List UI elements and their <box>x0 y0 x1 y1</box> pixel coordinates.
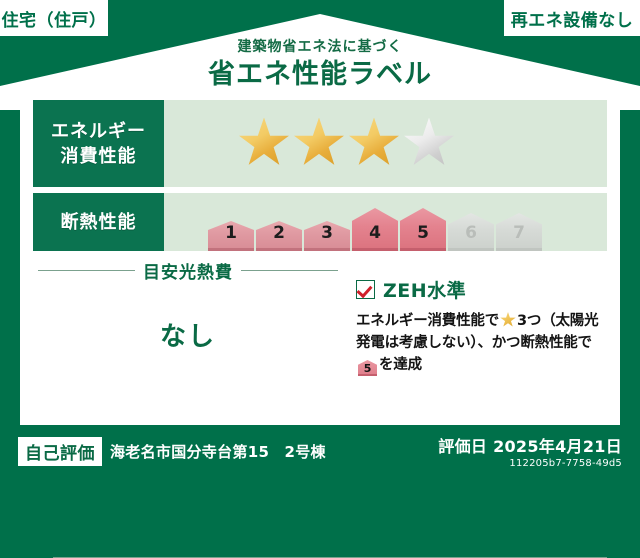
rule-left <box>38 270 135 271</box>
insulation-performance-row: 断熱性能 1 2 3 4 5 6 7 <box>33 193 607 251</box>
insulation-step-1: 1 <box>208 221 254 251</box>
insulation-step-7: 7 <box>496 213 542 251</box>
utility-cost-value: なし <box>38 316 338 353</box>
insulation-head-label: 断熱性能 <box>61 210 137 235</box>
checkmark-icon <box>356 280 375 299</box>
energy-performance-row: エネルギー 消費性能 <box>33 100 607 187</box>
evaluation-id: 112205b7-7758-49d5 <box>438 458 622 469</box>
star-icon-1 <box>238 118 290 170</box>
zeh-block: ZEH水準 エネルギー消費性能で3つ（太陽光発電は考慮しない）、かつ断熱性能で5… <box>356 276 606 376</box>
house-icon-inline: 5 <box>358 360 377 376</box>
footer-right: 評価日 2025年4月21日 112205b7-7758-49d5 <box>438 433 622 469</box>
energy-performance-body <box>164 100 607 187</box>
zeh-header: ZEH水準 <box>356 276 606 303</box>
insulation-performance-header: 断熱性能 <box>33 193 164 251</box>
utility-cost-title: 目安光熱費 <box>143 258 233 283</box>
footer: 自己評価 海老名市国分寺台第15 2号棟 評価日 2025年4月21日 1122… <box>0 425 640 480</box>
zeh-desc-part1: エネルギー消費性能で <box>356 313 499 329</box>
energy-head-line2: 消費性能 <box>61 144 137 169</box>
rule-right <box>241 270 338 271</box>
star-icon-inline <box>500 312 516 328</box>
insulation-step-6: 6 <box>448 213 494 251</box>
energy-performance-header: エネルギー 消費性能 <box>33 100 164 187</box>
property-address: 海老名市国分寺台第15 2号棟 <box>110 441 326 462</box>
insulation-step-4: 4 <box>352 208 398 251</box>
insulation-step-5: 5 <box>400 208 446 251</box>
self-evaluation-badge: 自己評価 <box>18 437 102 466</box>
zeh-description: エネルギー消費性能で3つ（太陽光発電は考慮しない）、かつ断熱性能で5を達成 <box>356 310 606 376</box>
insulation-scale: 1 2 3 4 5 6 7 <box>164 193 542 251</box>
star-icon-2 <box>293 118 345 170</box>
star-icon-3 <box>348 118 400 170</box>
insulation-step-3: 3 <box>304 221 350 251</box>
utility-cost-header: 目安光熱費 <box>38 258 338 283</box>
zeh-desc-part3: を達成 <box>379 357 422 373</box>
insulation-step-2: 2 <box>256 221 302 251</box>
energy-performance-label: 住宅（住戸） 再エネ設備なし 建築物省エネ法に基づく 省エネ性能ラベル エネルギ… <box>0 0 640 480</box>
zeh-title: ZEH水準 <box>383 276 466 303</box>
star-rating <box>164 118 455 170</box>
renewable-energy-tag: 再エネ設備なし <box>504 0 640 36</box>
footer-left: 自己評価 海老名市国分寺台第15 2号棟 <box>18 437 326 466</box>
star-icon-4 <box>403 118 455 170</box>
evaluation-date: 評価日 2025年4月21日 <box>438 433 622 457</box>
building-type-tag: 住宅（住戸） <box>0 0 108 36</box>
energy-head-line1: エネルギー <box>51 119 146 144</box>
insulation-performance-body: 1 2 3 4 5 6 7 <box>164 193 607 251</box>
zeh-desc-part2: は考慮しない）、かつ断熱性能で <box>385 335 592 351</box>
content-panel: エネルギー 消費性能 断熱性能 1 2 3 <box>20 88 620 425</box>
lower-section: 目安光熱費 なし ZEH水準 エネルギー消費性能で3つ（太陽光発電は考慮しない）… <box>20 258 620 425</box>
utility-cost-block: 目安光熱費 なし <box>38 258 338 353</box>
